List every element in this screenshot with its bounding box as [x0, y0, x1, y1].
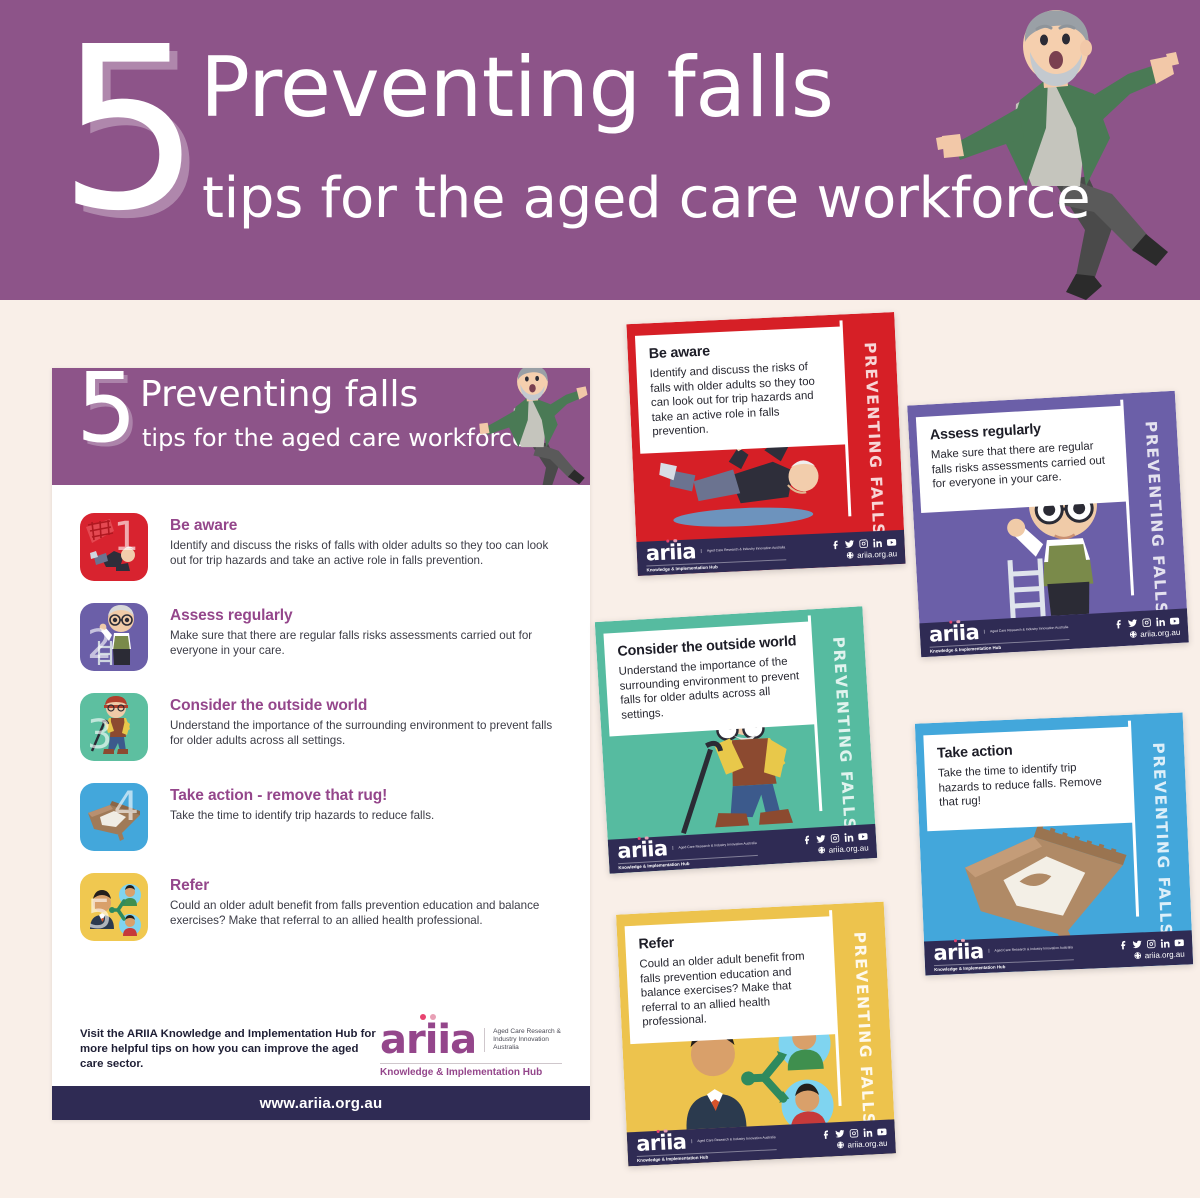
linkedin-icon[interactable]	[844, 832, 855, 843]
social-card-consider-outside-world[interactable]: PREVENTING FALLS Consider the outside wo…	[595, 606, 877, 873]
card-text: Identify and discuss the risks of falls …	[649, 359, 833, 440]
running-older-man-illustration	[880, 8, 1200, 300]
social-card-refer[interactable]: PREVENTING FALLS Refer Could an older ad…	[616, 902, 896, 1167]
youtube-icon[interactable]	[886, 537, 896, 547]
ariia-wordmark: ariia	[617, 839, 668, 861]
hero-number: 5	[58, 18, 197, 243]
ariia-tagline: Aged Care Research & Industry Innovation…	[984, 625, 1069, 634]
twitter-icon[interactable]	[816, 833, 827, 844]
card-social-block: ariia.org.au	[802, 831, 869, 856]
card-social-block: ariia.org.au	[830, 537, 897, 561]
ariia-tagline: Aged Care Research & Industry Innovation…	[701, 545, 786, 553]
card-url-text: ariia.org.au	[857, 549, 897, 560]
facebook-icon[interactable]	[1118, 939, 1128, 949]
tip-number: 2	[87, 625, 112, 665]
social-card-take-action[interactable]: PREVENTING FALLS Take action Take the ti…	[915, 712, 1193, 975]
card-spine-text: PREVENTING FALLS	[1149, 742, 1175, 937]
linkedin-icon[interactable]	[872, 537, 882, 547]
tip-item: 4 Take action - remove that rug! Take th…	[52, 783, 590, 851]
card-url-text: ariia.org.au	[1140, 627, 1180, 638]
globe-icon	[1134, 951, 1142, 959]
tip-heading: Refer	[170, 877, 562, 895]
ariia-tagline: Aged Care Research & Industry Innovation…	[672, 841, 757, 850]
card-spine: PREVENTING FALLS	[1131, 712, 1194, 966]
card-spine-text: PREVENTING FALLS	[1141, 421, 1170, 616]
ariia-tagline: Aged Care Research & Industry Innovation…	[484, 1028, 562, 1052]
card-url-text: ariia.org.au	[828, 843, 868, 854]
instagram-icon[interactable]	[858, 538, 868, 548]
facebook-icon[interactable]	[802, 834, 813, 845]
tip-number: 1	[114, 517, 139, 557]
card-title: Be aware	[648, 338, 830, 362]
youtube-icon[interactable]	[1169, 615, 1180, 626]
social-card-assess-regularly[interactable]: PREVENTING FALLS Assess regularly Make s…	[907, 391, 1189, 658]
ariia-wordmark: ariia	[636, 1132, 687, 1153]
instagram-icon[interactable]	[1141, 617, 1152, 628]
tip-item: 1 Be aware Identify and discuss the risk…	[52, 513, 590, 581]
poster-title: Preventing falls	[140, 374, 418, 416]
tip-heading: Assess regularly	[170, 607, 562, 625]
ariia-dots-icon	[954, 939, 965, 943]
ariia-dots-icon	[638, 836, 649, 840]
card-title: Refer	[638, 928, 820, 953]
card-text-box: Refer Could an older adult benefit from …	[625, 916, 836, 1043]
ariia-dots-icon	[657, 1129, 668, 1133]
ariia-wordmark: ariia	[928, 623, 979, 645]
card-text-box: Assess regularly Make sure that there ar…	[916, 406, 1127, 513]
poster-footer: Visit the ARIIA Knowledge and Implementa…	[52, 1021, 590, 1078]
ariia-dots-icon	[666, 539, 677, 543]
instagram-icon[interactable]	[849, 1128, 859, 1138]
card-social-block: ariia.org.au	[821, 1126, 888, 1150]
tip-text: Make sure that there are regular falls r…	[170, 628, 562, 658]
card-text-box: Take action Take the time to identify tr…	[923, 727, 1133, 832]
social-card-be-aware[interactable]: PREVENTING FALLS Be aware Identify and d…	[626, 312, 905, 576]
linkedin-icon[interactable]	[1160, 938, 1170, 948]
card-text: Make sure that there are regular falls r…	[931, 438, 1114, 492]
twitter-icon[interactable]	[1132, 939, 1142, 949]
tip-heading: Take action - remove that rug!	[170, 787, 562, 805]
ariia-dots-icon	[949, 620, 960, 624]
card-text-box: Be aware Identify and discuss the risks …	[635, 326, 846, 453]
card-spine: PREVENTING FALLS	[842, 312, 905, 566]
poster-header: 5 5 Preventing falls tips for the aged c…	[52, 368, 590, 485]
card-url[interactable]: ariia.org.au	[821, 1138, 887, 1150]
tips-list: 1 Be aware Identify and discuss the risk…	[52, 485, 590, 941]
main-poster: 5 5 Preventing falls tips for the aged c…	[52, 368, 590, 1120]
card-text: Could an older adult benefit from falls …	[639, 949, 823, 1030]
ariia-wordmark: ariia	[933, 942, 984, 963]
card-url[interactable]: ariia.org.au	[802, 843, 868, 856]
card-title: Take action	[937, 738, 1119, 762]
hero-title: Preventing falls	[200, 42, 833, 134]
twitter-icon[interactable]	[1127, 618, 1138, 629]
tip-text: Understand the importance of the surroun…	[170, 718, 562, 748]
tip-heading: Be aware	[170, 517, 562, 535]
card-text: Understand the importance of the surroun…	[618, 654, 802, 723]
facebook-icon[interactable]	[821, 1129, 831, 1139]
card-spine-text: PREVENTING FALLS	[850, 931, 877, 1126]
ariia-hub-label: Knowledge & Implementation Hub	[380, 1063, 562, 1078]
card-spine-text: PREVENTING FALLS	[829, 636, 858, 831]
ariia-wordmark: ariia	[380, 1021, 476, 1059]
facebook-icon[interactable]	[1113, 618, 1124, 629]
card-spine: PREVENTING FALLS	[832, 902, 896, 1156]
rug-icon: 4	[80, 783, 148, 851]
linkedin-icon[interactable]	[863, 1127, 873, 1137]
globe-icon	[1129, 630, 1137, 638]
card-text: Take the time to identify trip hazards t…	[938, 759, 1121, 810]
hero-subtitle: tips for the aged care workforce	[202, 168, 1090, 230]
tip-heading: Consider the outside world	[170, 697, 562, 715]
tip-item: 5 Refer Could an older adult benefit fro…	[52, 873, 590, 941]
tip-item: 2 Assess regularly Make sure that there …	[52, 603, 590, 671]
card-url[interactable]: ariia.org.au	[1119, 949, 1185, 961]
youtube-icon[interactable]	[1174, 937, 1184, 947]
card-spine-text: PREVENTING FALLS	[861, 342, 888, 537]
globe-icon	[836, 1141, 844, 1149]
tip-text: Take the time to identify trip hazards t…	[170, 808, 562, 823]
twitter-icon[interactable]	[835, 1128, 845, 1138]
globe-icon	[817, 846, 825, 854]
older-man-walker-icon: 2	[80, 603, 148, 671]
instagram-icon[interactable]	[1146, 938, 1156, 948]
ariia-dots-icon	[420, 1014, 436, 1020]
tip-text: Identify and discuss the risks of falls …	[170, 538, 562, 568]
card-url[interactable]: ariia.org.au	[831, 549, 897, 561]
poster-url-bar[interactable]: www.ariia.org.au	[52, 1086, 590, 1120]
card-social-block: ariia.org.au	[1118, 937, 1185, 961]
card-social-block: ariia.org.au	[1113, 615, 1180, 640]
tip-text: Could an older adult benefit from falls …	[170, 898, 562, 928]
ariia-tagline: Aged Care Research & Industry Innovation…	[691, 1135, 776, 1144]
twitter-icon[interactable]	[844, 539, 854, 549]
youtube-icon[interactable]	[877, 1126, 887, 1136]
older-man-cane-icon: 3	[80, 693, 148, 761]
youtube-icon[interactable]	[858, 831, 869, 842]
falling-person-chair-icon: 1	[80, 513, 148, 581]
tip-number: 4	[114, 787, 139, 827]
tip-number: 3	[87, 715, 112, 755]
ariia-logo: ariia Aged Care Research & Industry Inno…	[380, 1021, 562, 1078]
poster-number: 5	[76, 368, 137, 456]
tip-item: 3 Consider the outside world Understand …	[52, 693, 590, 761]
ariia-tagline: Aged Care Research & Industry Innovation…	[988, 945, 1073, 953]
poster-running-man-illustration	[450, 368, 590, 485]
card-url-text: ariia.org.au	[847, 1138, 887, 1149]
ariia-wordmark: ariia	[645, 542, 696, 563]
tip-number: 5	[87, 895, 112, 935]
card-url[interactable]: ariia.org.au	[1114, 627, 1180, 640]
facebook-icon[interactable]	[830, 539, 840, 549]
card-text-box: Consider the outside world Understand th…	[603, 621, 815, 736]
card-url-text: ariia.org.au	[1145, 949, 1185, 960]
linkedin-icon[interactable]	[1155, 616, 1166, 627]
poster-footer-text: Visit the ARIIA Knowledge and Implementa…	[80, 1027, 380, 1072]
referral-network-icon: 5	[80, 873, 148, 941]
globe-icon	[846, 551, 854, 559]
instagram-icon[interactable]	[830, 833, 841, 844]
hero-banner: 5 5 Preventing falls tips for the aged c…	[0, 0, 1200, 300]
